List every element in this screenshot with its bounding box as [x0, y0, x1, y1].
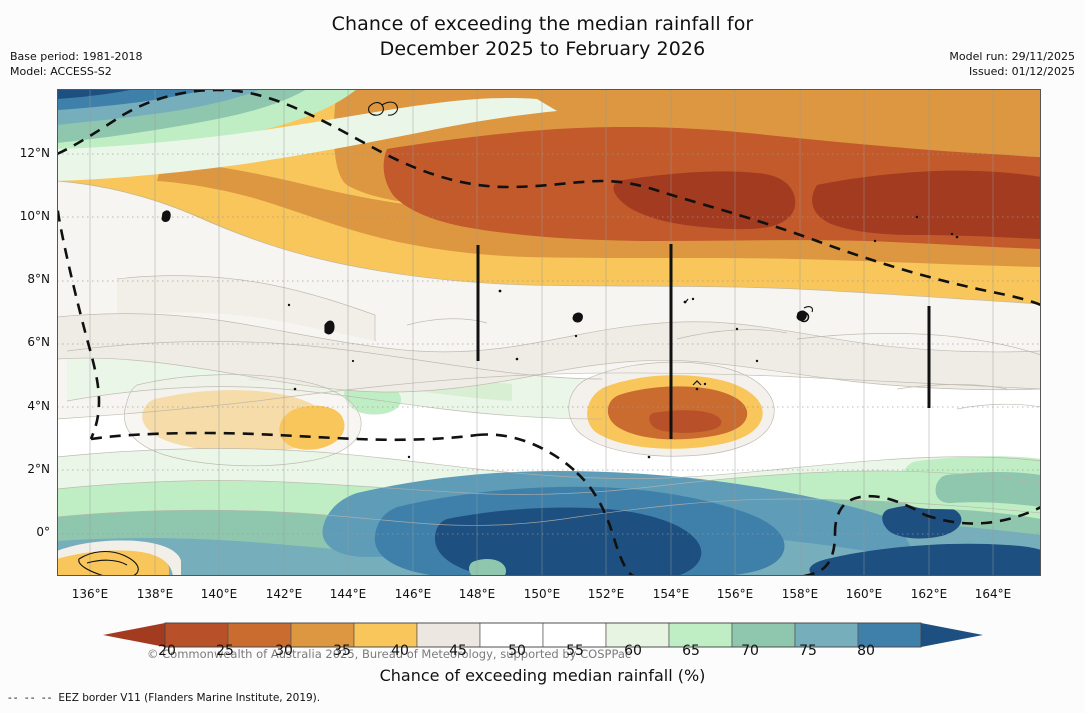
contour-band-25-30-eye [649, 410, 721, 433]
model-text: Model: ACCESS-S2 [10, 64, 142, 79]
x-tick-label-150e: 150°E [512, 587, 572, 601]
colorbar-tick-55: 55 [553, 643, 597, 659]
x-tick-label-160e: 160°E [834, 587, 894, 601]
colorbar-title: Chance of exceeding median rainfall (%) [0, 666, 1085, 685]
y-tick-label-6n: 6°N [4, 335, 50, 349]
colorbar-tick-35: 35 [320, 643, 364, 659]
x-tick-label-152e: 152°E [576, 587, 636, 601]
model-run-text: Model run: 29/11/2025 [949, 49, 1075, 64]
colorbar-tick-75: 75 [786, 643, 830, 659]
x-tick-label-148e: 148°E [447, 587, 507, 601]
y-tick-label-8n: 8°N [4, 272, 50, 286]
colorbar-tick-40: 40 [378, 643, 422, 659]
x-tick-label-138e: 138°E [125, 587, 185, 601]
colorbar-tick-80: 80 [844, 643, 888, 659]
x-tick-label-164e: 164°E [963, 587, 1023, 601]
x-tick-label-140e: 140°E [189, 587, 249, 601]
x-tick-label-136e: 136°E [60, 587, 120, 601]
colorbar-tick-20: 20 [145, 643, 189, 659]
x-tick-label-162e: 162°E [899, 587, 959, 601]
title-line-2: December 2025 to February 2026 [0, 37, 1085, 62]
x-tick-label-154e: 154°E [641, 587, 701, 601]
issued-text: Issued: 01/12/2025 [949, 64, 1075, 79]
y-tick-label-4n: 4°N [4, 399, 50, 413]
y-tick-label-10n: 10°N [4, 209, 50, 223]
x-tick-label-144e: 144°E [318, 587, 378, 601]
contour-band-65-70-right [936, 472, 1041, 507]
legend-footer-text: EEZ border V11 (Flanders Marine Institut… [58, 692, 320, 704]
colorbar-tick-30: 30 [262, 643, 306, 659]
y-tick-label-12n: 12°N [4, 146, 50, 160]
map-contour-plot [57, 89, 1041, 576]
y-tick-label-2n: 2°N [4, 462, 50, 476]
colorbar-tick-65: 65 [669, 643, 713, 659]
title-line-1: Chance of exceeding the median rainfall … [0, 12, 1085, 37]
x-tick-label-142e: 142°E [254, 587, 314, 601]
colorbar-tick-60: 60 [611, 643, 655, 659]
dashed-line-icon: -- -- -- [8, 692, 53, 704]
colorbar-extend-high [921, 623, 983, 647]
x-tick-label-146e: 146°E [383, 587, 443, 601]
base-period-text: Base period: 1981-2018 [10, 49, 142, 64]
x-tick-label-158e: 158°E [770, 587, 830, 601]
map-panel: © Commonwealth of Australia 2025, Bureau… [57, 89, 1041, 576]
colorbar-tick-70: 70 [728, 643, 772, 659]
colorbar-tick-50: 50 [495, 643, 539, 659]
page-title: Chance of exceeding the median rainfall … [0, 12, 1085, 62]
metadata-right: Model run: 29/11/2025 Issued: 01/12/2025 [949, 49, 1075, 79]
colorbar-tick-25: 25 [203, 643, 247, 659]
x-tick-label-156e: 156°E [705, 587, 765, 601]
metadata-left: Base period: 1981-2018 Model: ACCESS-S2 [10, 49, 142, 79]
y-tick-label-0: 0° [4, 525, 50, 539]
legend-footer: -- -- -- EEZ border V11 (Flanders Marine… [8, 692, 320, 704]
colorbar-tick-45: 45 [436, 643, 480, 659]
